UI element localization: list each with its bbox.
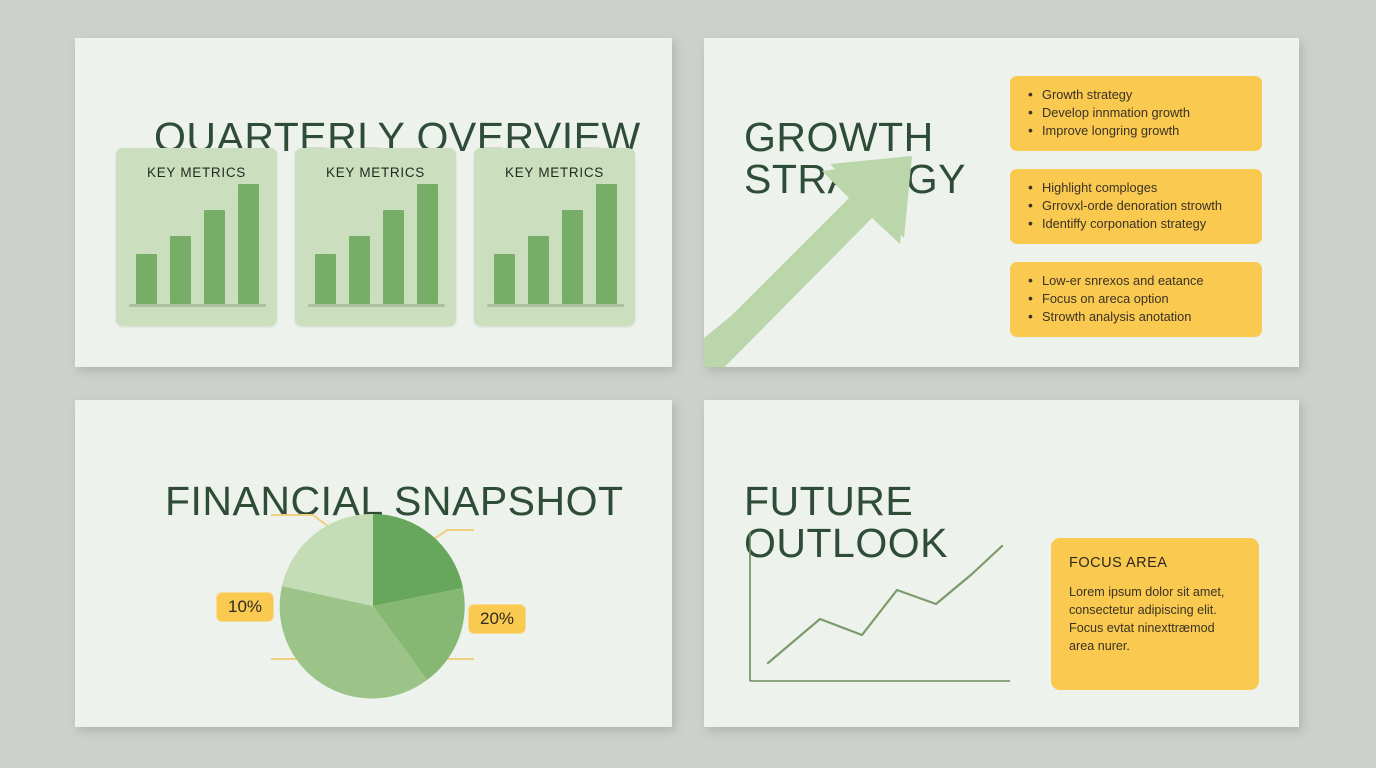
bullet-group-1[interactable]: Growth strategy Develop innmation growth… bbox=[1010, 76, 1262, 151]
bar-4 bbox=[596, 184, 617, 304]
key-metrics-label: KEY METRICS bbox=[116, 165, 277, 180]
key-metrics-card-3[interactable]: KEY METRICS bbox=[474, 148, 635, 326]
key-metrics-card-2[interactable]: KEY METRICS bbox=[295, 148, 456, 326]
bullet-list-3: Low-er snrexos and eatance Focus on arec… bbox=[1024, 272, 1248, 326]
bullet-item: Grrovxl-orde denoration strowth bbox=[1042, 197, 1248, 215]
bullet-item: Develop innmation growth bbox=[1042, 104, 1248, 122]
pie-label-top-right[interactable]: 20% bbox=[468, 604, 526, 634]
key-metrics-card-1[interactable]: KEY METRICS bbox=[116, 148, 277, 326]
pie-chart-financial[interactable] bbox=[75, 486, 672, 727]
bar-chart-key-metrics-2 bbox=[315, 184, 438, 304]
pie-slices bbox=[280, 514, 465, 698]
bullet-group-3[interactable]: Low-er snrexos and eatance Focus on arec… bbox=[1010, 262, 1262, 337]
focus-area-heading: FOCUS AREA bbox=[1069, 555, 1241, 571]
key-metrics-card-row: KEY METRICS KEY METRICS bbox=[116, 148, 635, 326]
bullet-item: Strowth analysis anotation bbox=[1042, 308, 1248, 326]
bar-4 bbox=[238, 184, 259, 304]
bar-chart-baseline bbox=[487, 304, 624, 307]
line-chart-axes bbox=[750, 532, 1010, 681]
page-title-growth: GROWTH STRATEGY bbox=[744, 117, 966, 201]
bullet-item: Growth strategy bbox=[1042, 86, 1248, 104]
bar-chart-baseline bbox=[129, 304, 266, 307]
bullet-item: Highlight comploges bbox=[1042, 179, 1248, 197]
bullet-group-2[interactable]: Highlight comploges Grrovxl-orde denorat… bbox=[1010, 169, 1262, 244]
bar-2 bbox=[170, 236, 191, 304]
slide-growth-strategy[interactable]: GROWTH STRATEGY Growth strategy Develop … bbox=[704, 38, 1299, 367]
line-chart-series bbox=[768, 546, 1002, 663]
pie-chart-area: 10% 20% 20% 12% bbox=[75, 486, 672, 727]
bullet-item: Focus on areca option bbox=[1042, 290, 1248, 308]
line-chart-outlook[interactable] bbox=[744, 530, 1014, 690]
bar-chart-key-metrics-1 bbox=[136, 184, 259, 304]
bullet-list-1: Growth strategy Develop innmation growth… bbox=[1024, 86, 1248, 140]
bar-2 bbox=[528, 236, 549, 304]
slide-deck: QUARTERLY OVERVIEW KEY METRICS KEY METRI… bbox=[0, 0, 1376, 768]
pie-label-top-left[interactable]: 10% bbox=[216, 592, 274, 622]
bar-3 bbox=[204, 210, 225, 304]
slide-future-outlook[interactable]: FUTURE OUTLOOK FOCUS AREA Lorem ipsum do… bbox=[704, 400, 1299, 727]
bullet-item: Identiffy corponation strategy bbox=[1042, 215, 1248, 233]
bullet-list-2: Highlight comploges Grrovxl-orde denorat… bbox=[1024, 179, 1248, 233]
bar-1 bbox=[494, 254, 515, 304]
bar-4 bbox=[417, 184, 438, 304]
key-metrics-label: KEY METRICS bbox=[474, 165, 635, 180]
slide-quarterly-overview[interactable]: QUARTERLY OVERVIEW KEY METRICS KEY METRI… bbox=[75, 38, 672, 367]
bullet-item: Improve longring growth bbox=[1042, 122, 1248, 140]
bar-1 bbox=[136, 254, 157, 304]
key-metrics-label: KEY METRICS bbox=[295, 165, 456, 180]
bar-1 bbox=[315, 254, 336, 304]
bar-3 bbox=[383, 210, 404, 304]
bar-chart-baseline bbox=[308, 304, 445, 307]
bar-chart-key-metrics-3 bbox=[494, 184, 617, 304]
bar-3 bbox=[562, 210, 583, 304]
bar-2 bbox=[349, 236, 370, 304]
focus-area-card[interactable]: FOCUS AREA Lorem ipsum dolor sit amet, c… bbox=[1051, 538, 1259, 690]
focus-area-body: Lorem ipsum dolor sit amet, consectetur … bbox=[1069, 584, 1241, 656]
slide-financial-snapshot[interactable]: FINANCIAL SNAPSHOT 10% 20 bbox=[75, 400, 672, 727]
bullet-item: Low-er snrexos and eatance bbox=[1042, 272, 1248, 290]
